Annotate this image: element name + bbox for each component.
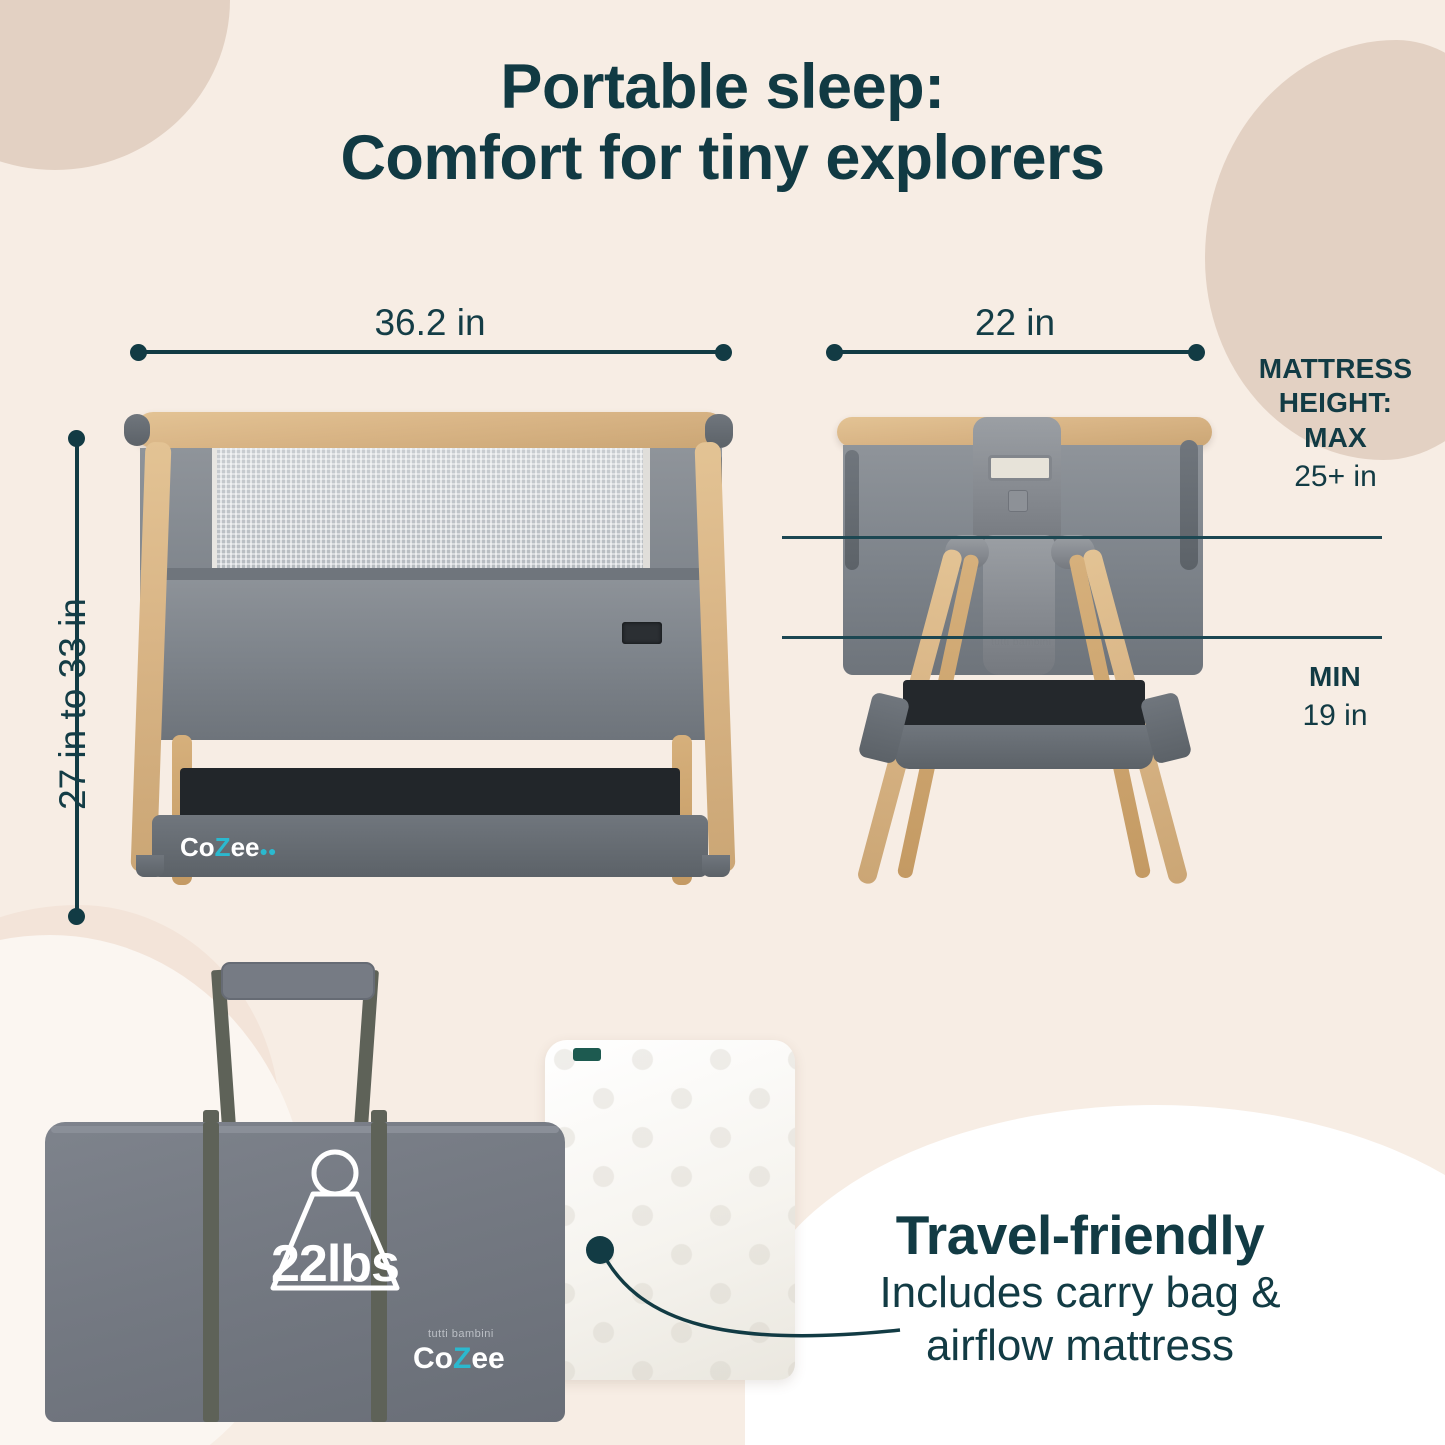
- mattress-height-min-callout: MIN 19 in: [1240, 660, 1430, 735]
- foot-left: [136, 855, 164, 877]
- page-title-line1: Portable sleep:: [500, 52, 944, 122]
- bag-handle-grip[interactable]: [221, 962, 375, 1000]
- foot-right: [702, 855, 730, 877]
- mattress-height-title-line2: HEIGHT:: [1233, 386, 1438, 420]
- end-zip-flap-left: [845, 450, 859, 570]
- travel-caption-line2: airflow mattress: [760, 1319, 1400, 1373]
- height-dimension-dot-bottom: [68, 908, 85, 925]
- mattress-height-title-line3: MAX: [1233, 421, 1438, 455]
- weight-value: 22lbs: [247, 1234, 423, 1294]
- depth-dimension-dot-left: [826, 344, 843, 361]
- mattress-height-max-callout: MATTRESS HEIGHT: MAX 25+ in: [1233, 352, 1438, 496]
- width-dimension-dot-right: [715, 344, 732, 361]
- carry-bag: 22lbs tutti bambini CoZee: [35, 950, 595, 1430]
- rail-cap-left: [124, 414, 150, 446]
- infographic-canvas: Portable sleep: Comfort for tiny explore…: [0, 0, 1445, 1445]
- mattress-height-min-value: 19 in: [1240, 696, 1430, 735]
- width-dimension-dot-left: [130, 344, 147, 361]
- end-storage-basket: [895, 725, 1153, 769]
- cozee-logo-basket: CoZee●●: [180, 832, 276, 863]
- bassinet-side-view: CoZee●●: [110, 400, 760, 920]
- width-dimension-line: [137, 350, 723, 354]
- travel-caption: Travel-friendly Includes carry bag & air…: [760, 1205, 1400, 1373]
- bassinet-end-view: tutti bambini: [825, 395, 1235, 915]
- cozee-logo-bag: CoZee: [413, 1342, 505, 1376]
- page-title: Portable sleep: Comfort for tiny explore…: [0, 52, 1445, 194]
- mattress-height-title-line1: MATTRESS: [1233, 352, 1438, 386]
- bag-top-seam: [51, 1126, 559, 1133]
- fabric-front-panel: [140, 570, 722, 740]
- bag-face-strap-left-top: [203, 1122, 219, 1422]
- storage-basket-interior: [180, 768, 680, 820]
- travel-caption-line1: Includes carry bag &: [760, 1266, 1400, 1320]
- cozee-logo-part3: ee: [231, 832, 260, 862]
- cozee-logo-bag-part1: Co: [413, 1342, 453, 1375]
- height-adjust-indicator: [1008, 490, 1028, 512]
- width-dimension-label: 36.2 in: [250, 302, 610, 344]
- page-title-line2: Comfort for tiny explorers: [0, 123, 1445, 194]
- height-dimension-label: 27 in to 33 in: [52, 598, 94, 810]
- mattress-height-min-title: MIN: [1240, 660, 1430, 694]
- wood-top-rail: [135, 412, 725, 448]
- cozee-logo-mark: ●●: [259, 843, 276, 859]
- mattress-height-max-value: 25+ in: [1233, 457, 1438, 496]
- mesh-breathable-panel: [210, 448, 650, 570]
- depth-dimension-label: 22 in: [870, 302, 1160, 344]
- mattress-height-max-line: [782, 536, 1382, 539]
- bag-parent-brand: tutti bambini: [428, 1328, 494, 1340]
- depth-dimension-dot-right: [1188, 344, 1205, 361]
- brand-label-tab: [622, 622, 662, 644]
- mattress-height-min-line: [782, 636, 1382, 639]
- height-adjust-handle-slot: [988, 455, 1052, 481]
- cozee-logo-bag-part3: ee: [471, 1342, 504, 1375]
- fabric-front-panel-edge: [148, 568, 714, 580]
- adjust-housing: [983, 535, 1055, 675]
- end-zip-flap-right: [1180, 440, 1198, 570]
- depth-dimension-line: [833, 350, 1195, 354]
- cozee-logo-part1: Co: [180, 832, 215, 862]
- travel-caption-title: Travel-friendly: [760, 1205, 1400, 1266]
- height-dimension-dot-top: [68, 430, 85, 447]
- cozee-logo-bag-part2: Z: [453, 1342, 471, 1375]
- height-adjust-column: [973, 417, 1061, 547]
- cozee-logo-part2: Z: [215, 832, 231, 862]
